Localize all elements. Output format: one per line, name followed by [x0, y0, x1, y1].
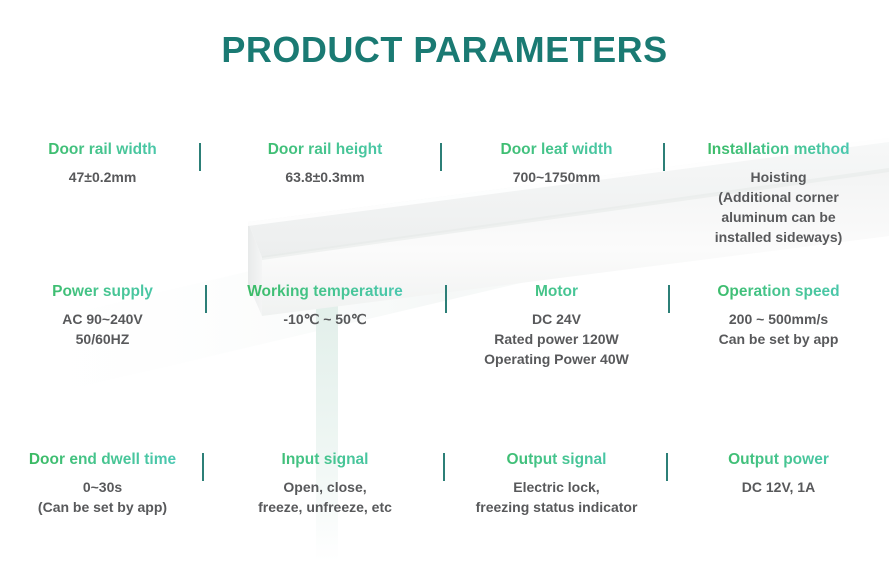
spec-value-line: (Additional corner — [668, 188, 889, 208]
spec-cell-input-signal: Input signal Open, close, freeze, unfree… — [205, 450, 445, 518]
spec-values: -10℃ ~ 50℃ — [205, 310, 445, 330]
column-divider — [443, 453, 445, 481]
spec-values: DC 24V Rated power 120W Operating Power … — [445, 310, 668, 370]
column-divider — [440, 143, 442, 171]
spec-value-line: Electric lock, — [445, 478, 668, 498]
spec-value-line: DC 12V, 1A — [668, 478, 889, 498]
spec-value-line: 63.8±0.3mm — [205, 168, 445, 188]
page-title: PRODUCT PARAMETERS — [0, 30, 889, 70]
product-parameters-page: PRODUCT PARAMETERS Door rail width 47±0.… — [0, 0, 889, 561]
spec-cell-door-rail-height: Door rail height 63.8±0.3mm — [205, 140, 445, 188]
spec-label: Output signal — [445, 450, 668, 471]
column-divider — [205, 285, 207, 313]
column-divider — [199, 143, 201, 171]
spec-value-line: Rated power 120W — [445, 330, 668, 350]
spec-label: Door rail width — [0, 140, 205, 161]
spec-label: Door end dwell time — [0, 450, 205, 471]
spec-cell-operation-speed: Operation speed 200 ~ 500mm/s Can be set… — [668, 282, 889, 350]
spec-value-line: DC 24V — [445, 310, 668, 330]
spec-value-line: 700~1750mm — [445, 168, 668, 188]
spec-values: Open, close, freeze, unfreeze, etc — [205, 478, 445, 518]
spec-cell-power-supply: Power supply AC 90~240V 50/60HZ — [0, 282, 205, 350]
spec-value-line: Open, close, — [205, 478, 445, 498]
spec-cell-output-power: Output power DC 12V, 1A — [668, 450, 889, 498]
spec-value-line: Can be set by app — [668, 330, 889, 350]
spec-cell-motor: Motor DC 24V Rated power 120W Operating … — [445, 282, 668, 370]
spec-cell-door-rail-width: Door rail width 47±0.2mm — [0, 140, 205, 188]
spec-value-line: 200 ~ 500mm/s — [668, 310, 889, 330]
spec-value-line: freezing status indicator — [445, 498, 668, 518]
spec-value-line: installed sideways) — [668, 228, 889, 248]
spec-value-line: Hoisting — [668, 168, 889, 188]
spec-values: 63.8±0.3mm — [205, 168, 445, 188]
column-divider — [445, 285, 447, 313]
column-divider — [668, 285, 670, 313]
column-divider — [666, 453, 668, 481]
spec-row: Door rail width 47±0.2mm Door rail heigh… — [0, 140, 889, 247]
spec-value-line: (Can be set by app) — [0, 498, 205, 518]
spec-label: Output power — [668, 450, 889, 471]
spec-value-line: aluminum can be — [668, 208, 889, 228]
spec-value-line: 0~30s — [0, 478, 205, 498]
spec-label: Motor — [445, 282, 668, 303]
spec-label: Door leaf width — [445, 140, 668, 161]
spec-value-line: Operating Power 40W — [445, 350, 668, 370]
spec-cell-installation-method: Installation method Hoisting (Additional… — [668, 140, 889, 247]
spec-value-line: -10℃ ~ 50℃ — [205, 310, 445, 330]
spec-cell-output-signal: Output signal Electric lock, freezing st… — [445, 450, 668, 518]
spec-label: Installation method — [668, 140, 889, 161]
spec-label: Operation speed — [668, 282, 889, 303]
spec-label: Power supply — [0, 282, 205, 303]
spec-values: DC 12V, 1A — [668, 478, 889, 498]
spec-values: AC 90~240V 50/60HZ — [0, 310, 205, 350]
spec-values: 0~30s (Can be set by app) — [0, 478, 205, 518]
spec-values: Electric lock, freezing status indicator — [445, 478, 668, 518]
spec-value-line: AC 90~240V — [0, 310, 205, 330]
spec-values: 700~1750mm — [445, 168, 668, 188]
spec-cell-working-temperature: Working temperature -10℃ ~ 50℃ — [205, 282, 445, 330]
spec-value-line: 47±0.2mm — [0, 168, 205, 188]
spec-values: 47±0.2mm — [0, 168, 205, 188]
spec-value-line: freeze, unfreeze, etc — [205, 498, 445, 518]
spec-cell-door-end-dwell-time: Door end dwell time 0~30s (Can be set by… — [0, 450, 205, 518]
spec-value-line: 50/60HZ — [0, 330, 205, 350]
spec-cell-door-leaf-width: Door leaf width 700~1750mm — [445, 140, 668, 188]
spec-label: Input signal — [205, 450, 445, 471]
spec-values: 200 ~ 500mm/s Can be set by app — [668, 310, 889, 350]
spec-values: Hoisting (Additional corner aluminum can… — [668, 168, 889, 248]
column-divider — [663, 143, 665, 171]
spec-label: Working temperature — [205, 282, 445, 303]
spec-label: Door rail height — [205, 140, 445, 161]
column-divider — [202, 453, 204, 481]
